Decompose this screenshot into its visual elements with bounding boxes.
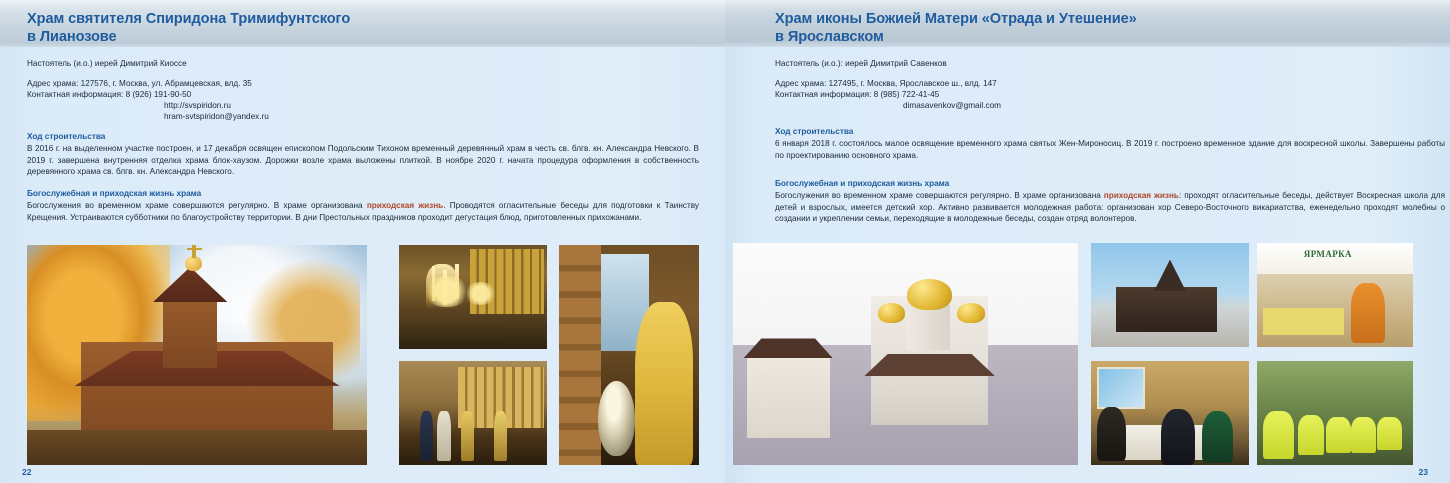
magazine-spread: Храм святителя Спиридона Тримифунтского … (0, 0, 1450, 483)
rector-line-right: Настоятель (и.о.): иерей Димитрий Савенк… (775, 58, 1445, 69)
section-body: Богослужения во временном храме совершаю… (775, 190, 1445, 224)
photo-grid-left (27, 245, 699, 465)
page-title-right: Храм иконы Божией Матери «Отрада и Утеше… (775, 11, 1435, 46)
photo-grid-right: ЯРМАРКА (733, 243, 1413, 465)
section-body-before: Богослужения во временном храме совершаю… (775, 191, 1104, 200)
photo-church-3d-render[interactable] (733, 243, 1078, 465)
photo-wooden-church-autumn[interactable] (27, 245, 367, 465)
website-link-left[interactable]: http://svspiridon.ru (27, 100, 699, 111)
section-construction-left: Ход строительства В 2016 г. на выделенно… (27, 131, 699, 177)
parish-life-highlight[interactable]: приходская жизнь (1104, 191, 1179, 200)
email-link-right[interactable]: dimasavenkov@gmail.com (775, 100, 1445, 111)
photo-charity-fair[interactable]: ЯРМАРКА (1257, 243, 1413, 347)
photo-youth-meeting[interactable] (1091, 361, 1249, 465)
contact-line-left: Контактная информация: 8 (926) 191-90-50 (27, 89, 699, 100)
page-title-left: Храм святителя Спиридона Тримифунтского … (27, 11, 687, 46)
page-right: Храм иконы Божией Матери «Отрада и Утеше… (725, 0, 1450, 483)
section-body: В 2016 г. на выделенном участке построен… (27, 143, 699, 177)
section-construction-right: Ход строительства 6 января 2018 г. состо… (775, 126, 1445, 161)
email-link-left[interactable]: hram-svtspiridon@yandex.ru (27, 111, 699, 122)
parish-life-highlight[interactable]: приходская жизнь (367, 201, 443, 210)
address-line-left: Адрес храма: 127576, г. Москва, ул. Абра… (27, 78, 699, 89)
section-heading: Ход строительства (27, 131, 699, 142)
section-parish-life-right: Богослужебная и приходская жизнь храма Б… (775, 178, 1445, 224)
page-number-left: 22 (22, 467, 31, 477)
photo-volunteers[interactable] (1257, 361, 1413, 465)
section-body: Богослужения во временном храме совершаю… (27, 200, 699, 223)
photo-service-iconostasis[interactable] (399, 361, 547, 465)
photo-priest-blessing[interactable] (559, 245, 699, 465)
section-heading: Богослужебная и приходская жизнь храма (27, 188, 699, 199)
section-body-before: Богослужения во временном храме совершаю… (27, 201, 367, 210)
fair-banner-text: ЯРМАРКА (1304, 249, 1385, 268)
contact-line-right: Контактная информация: 8 (985) 722-41-45 (775, 89, 1445, 100)
section-parish-life-left: Богослужебная и приходская жизнь храма Б… (27, 188, 699, 223)
photo-temporary-wooden-church[interactable] (1091, 243, 1249, 347)
page-number-right: 23 (1419, 467, 1428, 477)
section-heading: Богослужебная и приходская жизнь храма (775, 178, 1445, 189)
address-line-right: Адрес храма: 127495, г. Москва, Ярославс… (775, 78, 1445, 89)
section-body: 6 января 2018 г. состоялось малое освяще… (775, 138, 1445, 161)
photo-interior-candles[interactable] (399, 245, 547, 349)
page-left: Храм святителя Спиридона Тримифунтского … (0, 0, 725, 483)
section-heading: Ход строительства (775, 126, 1445, 137)
rector-line-left: Настоятель (и.о.) иерей Димитрий Киоссе (27, 58, 699, 69)
